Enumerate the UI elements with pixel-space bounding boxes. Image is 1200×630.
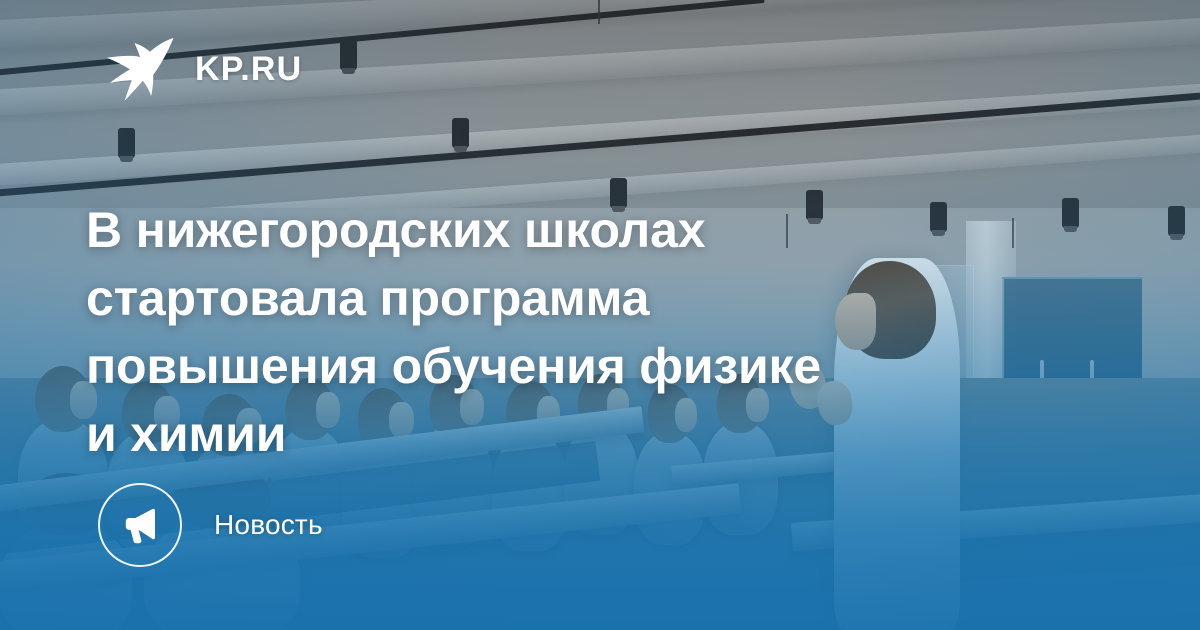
headline-line-3: повышения обучения физике (86, 332, 986, 400)
brand-lockup[interactable]: KP.RU (103, 36, 302, 102)
megaphone-icon (119, 504, 161, 546)
headline: В нижегородских школах стартовала програ… (86, 196, 986, 468)
badge-label: Новость (214, 509, 323, 541)
news-share-card: KP.RU В нижегородских школах стартовала … (0, 0, 1200, 630)
headline-line-2: стартовала программа (86, 264, 986, 332)
card-content: KP.RU В нижегородских школах стартовала … (0, 0, 1200, 630)
headline-line-4: и химии (86, 400, 986, 468)
category-badge[interactable]: Новость (98, 483, 323, 567)
headline-line-1: В нижегородских школах (86, 196, 986, 264)
brand-wordmark: KP.RU (195, 52, 302, 86)
badge-circle (98, 483, 182, 567)
swallow-bird-icon (103, 36, 175, 102)
